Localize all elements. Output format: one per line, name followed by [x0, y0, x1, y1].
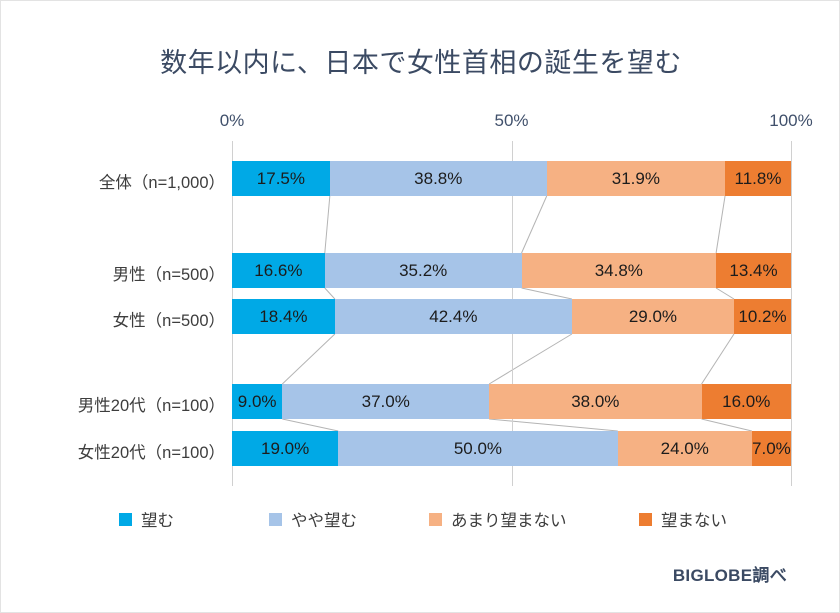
x-axis-tick-0: 0%	[220, 111, 245, 131]
legend-item-3[interactable]: 望まない	[639, 507, 727, 531]
connector-line	[716, 196, 725, 253]
bar-value-label: 18.4%	[259, 307, 307, 327]
bar-value-label: 38.0%	[571, 392, 619, 412]
category-axis-labels: 全体（n=1,000）男性（n=500）女性（n=500）男性20代（n=100…	[1, 141, 225, 486]
bar-value-label: 13.4%	[729, 261, 777, 281]
source-attribution: BIGLOBE調べ	[673, 561, 787, 586]
bar-segment: 17.5%	[232, 161, 330, 196]
bar-segment: 24.0%	[618, 431, 752, 466]
bar-segment: 38.8%	[330, 161, 547, 196]
legend-label: 望まない	[661, 507, 727, 531]
bar-value-label: 50.0%	[454, 439, 502, 459]
bar-value-label: 31.9%	[612, 169, 660, 189]
bar-value-label: 16.6%	[254, 261, 302, 281]
bar-segment: 29.0%	[572, 299, 734, 334]
bar-segment: 34.8%	[522, 253, 717, 288]
legend-label: やや望む	[291, 507, 357, 531]
connector-line	[325, 196, 330, 253]
bar-segment: 42.4%	[335, 299, 572, 334]
bar-value-label: 10.2%	[738, 307, 786, 327]
page-title: 数年以内に、日本で女性首相の誕生を望む	[1, 41, 840, 80]
x-axis-tick-100: 100%	[769, 111, 812, 131]
category-label-4: 女性20代（n=100）	[10, 439, 225, 463]
gridline-100	[791, 141, 792, 486]
bar-value-label: 17.5%	[257, 169, 305, 189]
bar-value-label: 37.0%	[362, 392, 410, 412]
bar-segment: 37.0%	[282, 384, 489, 419]
connector-line	[522, 196, 547, 253]
category-label-3: 男性20代（n=100）	[10, 392, 225, 416]
connector-line	[282, 419, 338, 431]
x-axis-tick-50: 50%	[494, 111, 528, 131]
connector-line	[702, 419, 752, 431]
chart-container: 数年以内に、日本で女性首相の誕生を望む 0%50%100% 全体（n=1,000…	[0, 0, 840, 613]
legend-swatch-icon	[119, 513, 132, 526]
legend-label: あまり望まない	[451, 507, 567, 531]
bar-segment: 35.2%	[325, 253, 522, 288]
connector-line	[489, 334, 572, 384]
connector-line	[522, 288, 572, 299]
connector-line	[325, 288, 335, 299]
category-label-0: 全体（n=1,000）	[10, 169, 225, 193]
bar-segment: 7.0%	[752, 431, 791, 466]
bar-value-label: 29.0%	[629, 307, 677, 327]
bar-row: 17.5%38.8%31.9%11.8%	[232, 161, 791, 196]
legend-item-2[interactable]: あまり望まない	[429, 507, 567, 531]
legend-item-0[interactable]: 望む	[119, 507, 174, 531]
legend-swatch-icon	[429, 513, 442, 526]
legend-label: 望む	[141, 507, 174, 531]
bar-segment: 50.0%	[338, 431, 618, 466]
bar-value-label: 19.0%	[261, 439, 309, 459]
bar-value-label: 16.0%	[722, 392, 770, 412]
bar-segment: 10.2%	[734, 299, 791, 334]
bar-row: 18.4%42.4%29.0%10.2%	[232, 299, 791, 334]
bar-segment: 38.0%	[489, 384, 701, 419]
bar-value-label: 11.8%	[735, 169, 782, 189]
bar-segment: 11.8%	[725, 161, 791, 196]
connector-line	[282, 334, 335, 384]
bar-segment: 13.4%	[716, 253, 791, 288]
legend-item-1[interactable]: やや望む	[269, 507, 357, 531]
bar-row: 9.0%37.0%38.0%16.0%	[232, 384, 791, 419]
bar-segment: 16.0%	[702, 384, 791, 419]
bar-value-label: 34.8%	[595, 261, 643, 281]
connector-line	[489, 419, 618, 431]
bar-segment: 18.4%	[232, 299, 335, 334]
category-label-2: 女性（n=500）	[10, 307, 225, 331]
legend-swatch-icon	[269, 513, 282, 526]
connector-line	[716, 288, 734, 299]
bar-segment: 9.0%	[232, 384, 282, 419]
bar-value-label: 9.0%	[238, 392, 277, 412]
bar-value-label: 42.4%	[429, 307, 477, 327]
legend-swatch-icon	[639, 513, 652, 526]
bar-value-label: 7.0%	[752, 439, 791, 459]
category-label-1: 男性（n=500）	[10, 261, 225, 285]
x-axis-tick-labels: 0%50%100%	[1, 111, 840, 133]
bar-segment: 31.9%	[547, 161, 725, 196]
bar-row: 16.6%35.2%34.8%13.4%	[232, 253, 791, 288]
bar-value-label: 38.8%	[414, 169, 462, 189]
connector-line	[702, 334, 734, 384]
bar-row: 19.0%50.0%24.0%7.0%	[232, 431, 791, 466]
bar-value-label: 35.2%	[399, 261, 447, 281]
chart-legend: 望むやや望むあまり望まない望まない	[119, 506, 779, 532]
bar-value-label: 24.0%	[661, 439, 709, 459]
bar-segment: 19.0%	[232, 431, 338, 466]
plot-area: 17.5%38.8%31.9%11.8%16.6%35.2%34.8%13.4%…	[232, 141, 791, 486]
bar-segment: 16.6%	[232, 253, 325, 288]
